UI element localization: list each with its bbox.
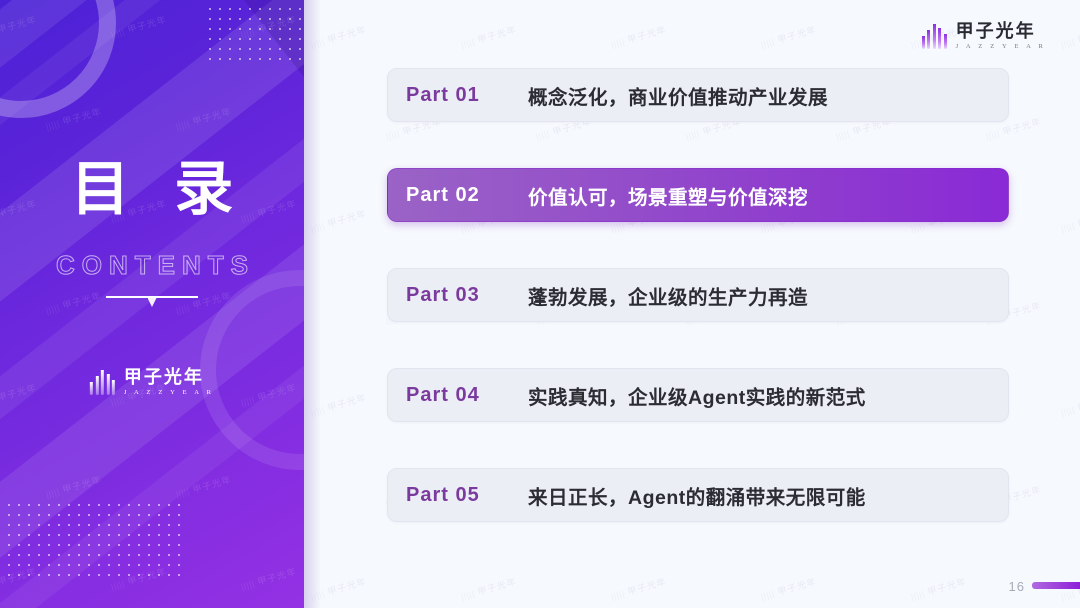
toc-item-part-05[interactable]: Part 05 来日正长，Agent的翻涌带来无限可能 [387, 468, 1009, 522]
watermark-text: ||||| 甲子光年 [609, 574, 668, 602]
content-area: ||||| 甲子光年||||| 甲子光年||||| 甲子光年||||| 甲子光年… [320, 0, 1080, 608]
watermark-text: ||||| 甲子光年 [459, 22, 518, 50]
toc-item-part-02[interactable]: Part 02 价值认可，场景重塑与价值深挖 [387, 168, 1009, 222]
page-title: 目 录 [0, 160, 304, 219]
watermark-text: ||||| 甲子光年 [1059, 206, 1080, 234]
logo-text: 甲子光年 J A Z Z Y E A R [956, 22, 1046, 51]
toc-part-label: Part 01 [406, 84, 528, 107]
page-subtitle: CONTENTS [0, 252, 304, 278]
watermark-text: ||||| 甲子光年 [759, 574, 818, 602]
title-divider [106, 296, 198, 298]
toc-item-part-04[interactable]: Part 04 实践真知，企业级Agent实践的新范式 [387, 368, 1009, 422]
logo-title-cn: 甲子光年 [124, 367, 204, 387]
contents-panel: ||||| 甲子光年||||| 甲子光年||||| 甲子光年||||| 甲子光年… [0, 0, 304, 608]
toc-part-label: Part 04 [406, 384, 528, 407]
toc-item-part-01[interactable]: Part 01 概念泛化，商业价值推动产业发展 [387, 68, 1009, 122]
toc-part-title: 蓬勃发展，企业级的生产力再造 [528, 281, 808, 310]
panel-brand-logo: 甲子光年 J A Z Z Y E A R [90, 368, 214, 397]
logo-title-en: J A Z Z Y E A R [124, 390, 214, 397]
watermark-text: ||||| 甲子光年 [109, 12, 168, 40]
dot-grid-pattern [205, 4, 304, 66]
decorative-ring [0, 0, 116, 118]
watermark-text: ||||| 甲子光年 [909, 574, 968, 602]
logo-title-en: J A Z Z Y E A R [956, 44, 1046, 51]
panel-shadow-edge [304, 0, 320, 608]
slide: ||||| 甲子光年||||| 甲子光年||||| 甲子光年||||| 甲子光年… [0, 0, 1080, 608]
toc-part-title: 价值认可，场景重塑与价值深挖 [528, 181, 808, 210]
toc-part-title: 实践真知，企业级Agent实践的新范式 [528, 381, 866, 410]
page-accent-bar [1032, 582, 1080, 589]
dot-grid-pattern [4, 500, 184, 578]
toc-part-title: 概念泛化，商业价值推动产业发展 [528, 81, 828, 110]
watermark-text: ||||| 甲子光年 [44, 472, 103, 500]
logo-bars-icon [922, 23, 947, 49]
toc-part-label: Part 03 [406, 284, 528, 307]
page-number: 16 [1009, 579, 1025, 594]
table-of-contents: Part 01 概念泛化，商业价值推动产业发展 Part 02 价值认可，场景重… [387, 68, 1009, 522]
toc-part-label: Part 02 [406, 184, 528, 207]
watermark-text: ||||| 甲子光年 [174, 472, 233, 500]
header-brand-logo: 甲子光年 J A Z Z Y E A R [922, 22, 1046, 51]
logo-title-cn: 甲子光年 [956, 21, 1036, 41]
watermark-text: ||||| 甲子光年 [0, 380, 38, 408]
toc-part-title: 来日正长，Agent的翻涌带来无限可能 [528, 481, 866, 510]
toc-item-part-03[interactable]: Part 03 蓬勃发展，企业级的生产力再造 [387, 268, 1009, 322]
toc-part-label: Part 05 [406, 484, 528, 507]
watermark-text: ||||| 甲子光年 [1059, 22, 1080, 50]
watermark-text: ||||| 甲子光年 [1059, 390, 1080, 418]
logo-bars-icon [90, 369, 115, 395]
decorative-ring [200, 270, 304, 470]
watermark-text: ||||| 甲子光年 [239, 564, 298, 592]
watermark-text: ||||| 甲子光年 [44, 288, 103, 316]
logo-text: 甲子光年 J A Z Z Y E A R [124, 368, 214, 397]
watermark-text: ||||| 甲子光年 [609, 22, 668, 50]
watermark-text: ||||| 甲子光年 [459, 574, 518, 602]
watermark-text: ||||| 甲子光年 [759, 22, 818, 50]
watermark-text: ||||| 甲子光年 [174, 104, 233, 132]
